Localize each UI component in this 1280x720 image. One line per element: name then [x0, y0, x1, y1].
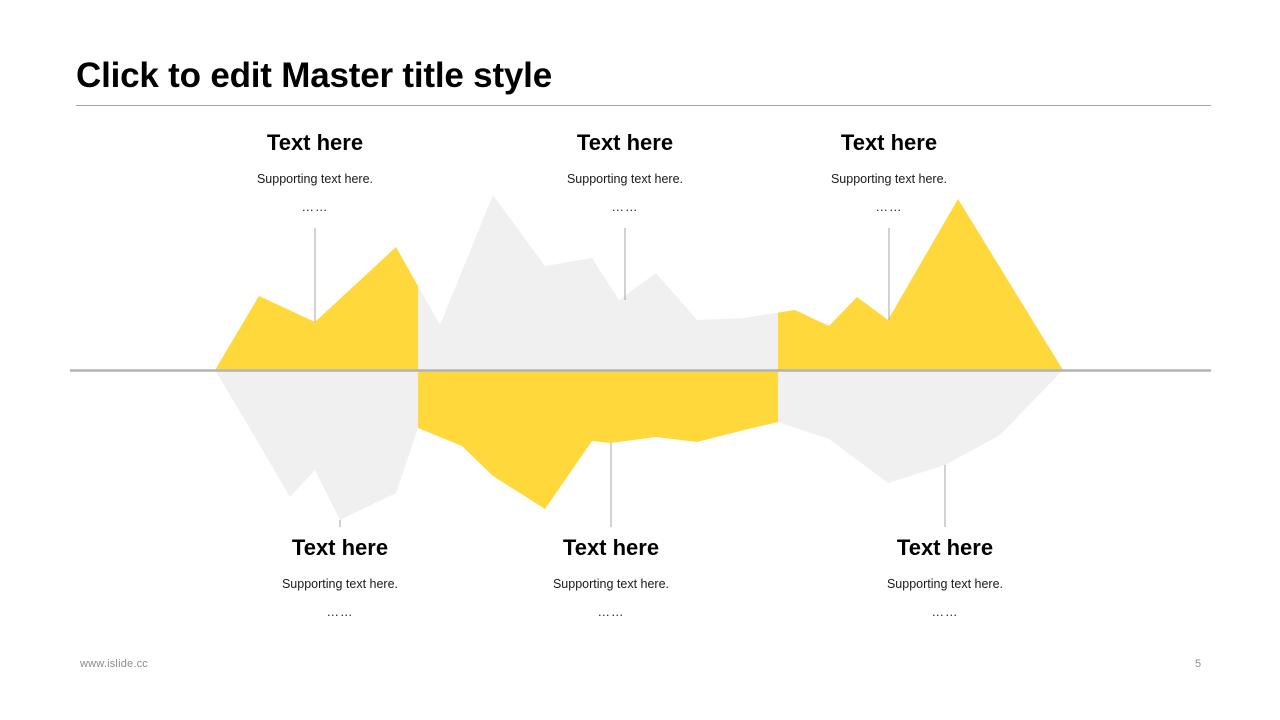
callout-title[interactable]: Text here [185, 128, 445, 158]
callout-title[interactable]: Text here [481, 533, 741, 563]
callout-subtitle[interactable]: Supporting text here. [210, 575, 470, 593]
callout-title[interactable]: Text here [759, 128, 1019, 158]
area-lower-segment-2 [215, 370, 1063, 520]
callout-title[interactable]: Text here [210, 533, 470, 563]
title-block: Click to edit Master title style [76, 54, 1211, 106]
area-upper-segment-2 [215, 195, 1063, 370]
page-number: 5 [1186, 658, 1210, 670]
callout-top-2[interactable]: Text here Supporting text here. …… [495, 128, 755, 216]
callout-ellipsis: …… [210, 603, 470, 621]
chart-lower-band [215, 370, 1063, 520]
callout-subtitle[interactable]: Supporting text here. [815, 575, 1075, 593]
callout-bottom-3[interactable]: Text here Supporting text here. …… [815, 533, 1075, 621]
callout-subtitle[interactable]: Supporting text here. [759, 170, 1019, 188]
callout-ellipsis: …… [185, 198, 445, 216]
callout-ellipsis: …… [481, 603, 741, 621]
area-upper-segment-3 [215, 195, 1063, 370]
callout-ellipsis: …… [495, 198, 755, 216]
callout-title[interactable]: Text here [815, 533, 1075, 563]
area-lower-segment-1 [215, 370, 1063, 520]
callout-top-1[interactable]: Text here Supporting text here. …… [185, 128, 445, 216]
area-upper-segment-1 [215, 195, 1063, 370]
callout-subtitle[interactable]: Supporting text here. [185, 170, 445, 188]
area-lower-segment-3 [215, 370, 1063, 520]
callout-ellipsis: …… [815, 603, 1075, 621]
callout-title[interactable]: Text here [495, 128, 755, 158]
footer-url[interactable]: www.islide.cc [80, 658, 148, 670]
slide-canvas: Click to edit Master title style [0, 0, 1280, 720]
callout-subtitle[interactable]: Supporting text here. [495, 170, 755, 188]
chart-upper-band [215, 195, 1063, 370]
callout-bottom-2[interactable]: Text here Supporting text here. …… [481, 533, 741, 621]
callout-ellipsis: …… [759, 198, 1019, 216]
callout-subtitle[interactable]: Supporting text here. [481, 575, 741, 593]
page-title[interactable]: Click to edit Master title style [76, 54, 1211, 98]
callout-bottom-1[interactable]: Text here Supporting text here. …… [210, 533, 470, 621]
title-divider [76, 105, 1211, 106]
callout-top-3[interactable]: Text here Supporting text here. …… [759, 128, 1019, 216]
